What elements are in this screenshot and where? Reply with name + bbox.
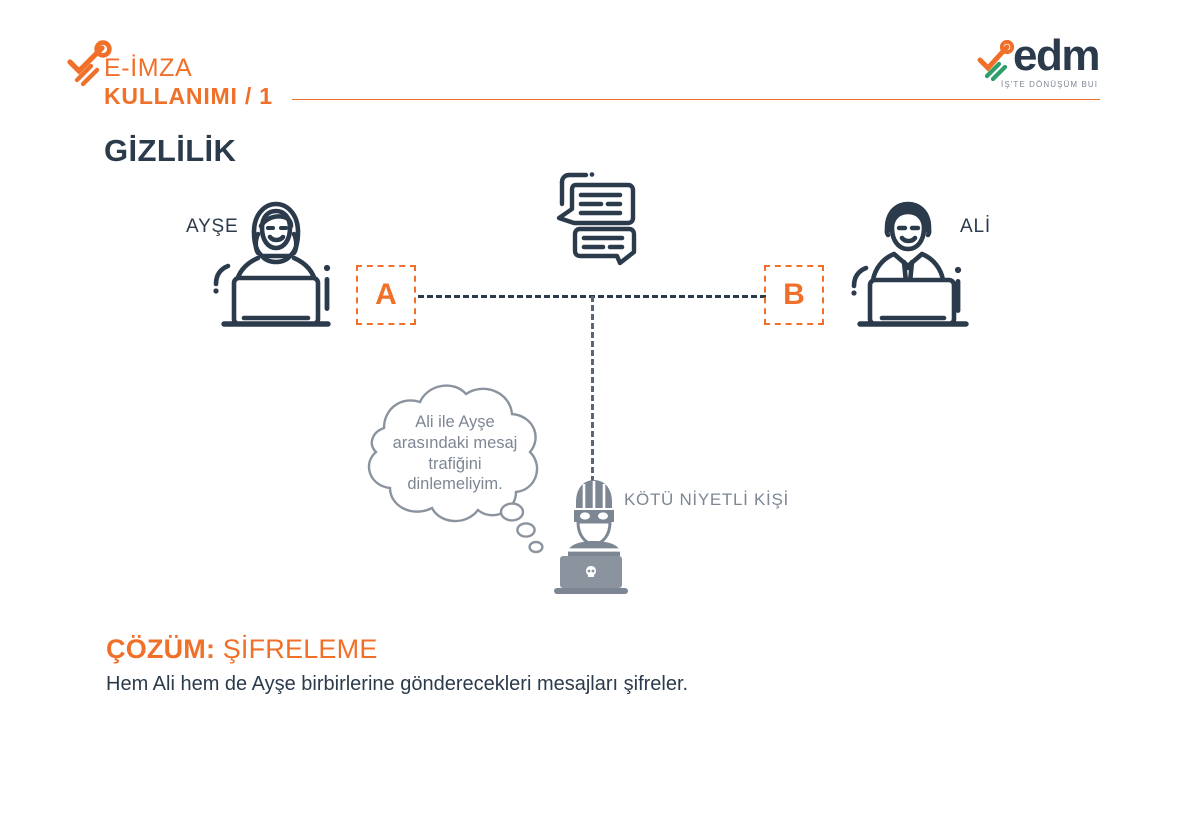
- solution-description: Hem Ali hem de Ayşe birbirlerine göndere…: [106, 673, 688, 696]
- solution-label: ÇÖZÜM:: [106, 634, 215, 664]
- edm-tagline: İŞ'TE DÖNÜŞÜM BUI: [1001, 80, 1098, 89]
- receiver-text-cursor-i-icon: [953, 265, 963, 320]
- privacy-flow-diagram: AYŞE: [0, 150, 1180, 620]
- receiver-label: ALİ: [960, 216, 991, 238]
- sender-key-label: A: [375, 280, 397, 310]
- chat-bubbles-icon: [548, 168, 644, 272]
- edm-logo: edm İŞ'TE DÖNÜŞÜM BUI: [977, 38, 1102, 100]
- sender-key-box: A: [356, 265, 416, 325]
- solution-section: ÇÖZÜM: ŞİFRELEME Hem Ali hem de Ayşe bir…: [0, 628, 1180, 718]
- receiver-key-box: B: [764, 265, 824, 325]
- sender-text-cursor-i-icon: [322, 263, 332, 318]
- dashed-link-vertical-icon: [591, 296, 594, 482]
- attacker-thought-text: Ali ile Ayşe arasındaki mesaj trafiğini …: [368, 412, 542, 495]
- solution-heading: ÇÖZÜM: ŞİFRELEME: [106, 636, 378, 663]
- edm-wordmark: edm: [1013, 34, 1099, 78]
- header-subtitle-kullanimi: KULLANIMI / 1: [104, 83, 273, 110]
- receiver-key-label: B: [783, 280, 805, 310]
- page-header: E-İMZA KULLANIMI / 1 GİZLİLİK edm İŞ'TE …: [0, 0, 1180, 160]
- attacker-label: KÖTÜ NİYETLİ KİŞİ: [624, 490, 789, 510]
- header-subtitle-eimza: E-İMZA: [104, 54, 192, 83]
- solution-value: ŞİFRELEME: [223, 634, 378, 664]
